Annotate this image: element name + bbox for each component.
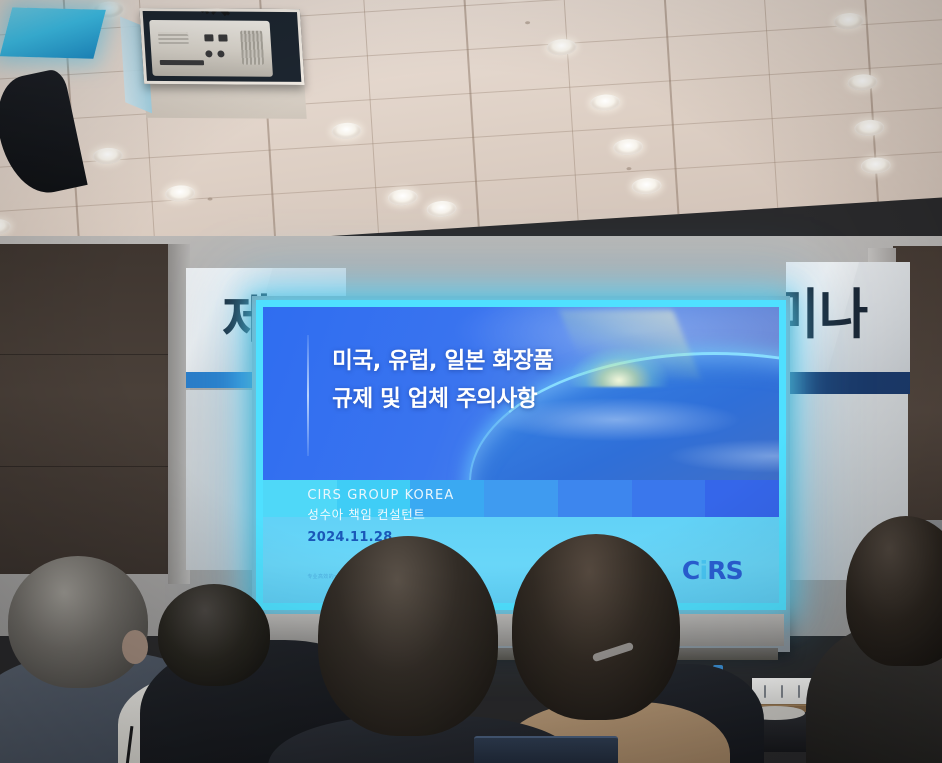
slide-title-line-2: 규제 및 업체 주의사항 — [332, 380, 704, 419]
audience-person-head — [512, 534, 680, 720]
ceiling — [0, 0, 942, 259]
color-band — [705, 480, 779, 517]
audience-person-ear — [122, 630, 148, 664]
name-card-placard — [752, 678, 812, 704]
color-band — [632, 480, 706, 517]
presenter-block: CIRS GROUP KOREA 성수아 책임 컨설턴트 — [307, 486, 454, 524]
audience-person-head — [318, 536, 498, 736]
audience-person-head — [158, 584, 270, 686]
presentation-slide: 미국, 유럽, 일본 화장품 규제 및 업체 주의사항 CIRS GROUP K… — [263, 307, 779, 603]
color-band — [558, 480, 632, 517]
organization-name: CIRS GROUP KOREA — [307, 486, 454, 506]
slide-hero-area: 미국, 유럽, 일본 화장품 규제 및 업체 주의사항 — [263, 307, 779, 480]
presenter-name: 성수아 책임 컨설턴트 — [307, 506, 454, 525]
slide-title: 미국, 유럽, 일본 화장품 규제 및 업체 주의사항 — [332, 342, 704, 419]
seminar-room-photo: 제1 미나 미국, 유럽, 일본 화장품 규제 및 업체 주의사항 — [0, 0, 942, 763]
wall-panel-dark-left — [0, 244, 172, 574]
cirs-logo: CiRS — [682, 556, 743, 585]
laptop — [474, 736, 618, 763]
slide-title-line-1: 미국, 유럽, 일본 화장품 — [332, 342, 704, 381]
projector-recess — [139, 8, 304, 85]
banner-right-stripe — [786, 372, 910, 394]
seminar-banner-right: 미나 — [786, 262, 910, 394]
projector-light-glow — [0, 7, 106, 58]
color-band — [484, 480, 558, 517]
banner-right-text: 미나 — [786, 270, 867, 349]
audience-person-head — [8, 556, 148, 688]
title-accent-line — [307, 335, 309, 456]
